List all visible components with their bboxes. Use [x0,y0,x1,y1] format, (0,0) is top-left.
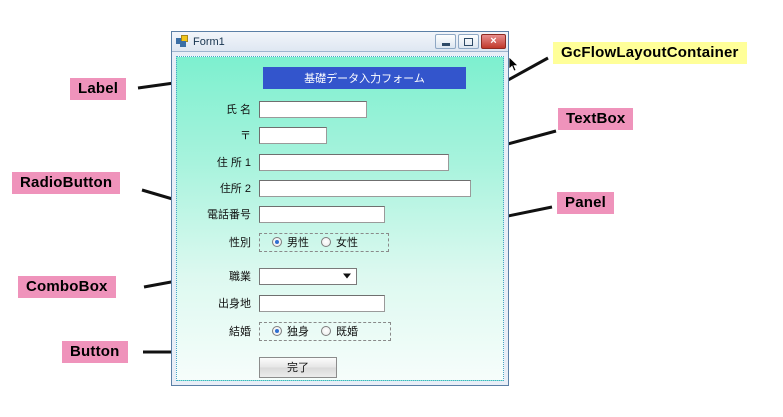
textbox-address2[interactable] [259,180,471,197]
window-title: Form1 [193,36,435,48]
textbox-address1[interactable] [259,154,449,171]
annotation-combobox: ComboBox [18,276,116,298]
maximize-icon [464,38,473,46]
textbox-birthplace[interactable] [259,295,385,312]
field-row-name: 氏 名 [177,99,367,119]
label-marital: 結婚 [177,323,259,339]
radio-marital-married-label: 既婚 [336,323,358,339]
radio-gender-male-label: 男性 [287,234,309,250]
textbox-name[interactable] [259,101,367,118]
header-label: 基礎データ入力フォーム [263,67,466,89]
field-row-occupation: 職業 [177,266,357,286]
radio-gender-male[interactable]: 男性 [272,234,309,250]
field-row-postal: 〒 [177,125,327,145]
field-row-phone: 電話番号 [177,204,385,224]
textbox-postal[interactable] [259,127,327,144]
panel-gender: 男性 女性 [259,233,389,252]
radio-icon [321,237,331,247]
label-birthplace: 出身地 [177,295,259,311]
label-address1: 住 所 1 [177,154,259,170]
close-button[interactable]: × [481,34,506,49]
maximize-button[interactable] [458,34,479,49]
label-address2: 住所 2 [177,180,259,196]
radio-marital-married[interactable]: 既婚 [321,323,358,339]
chevron-down-icon [343,274,351,279]
radio-marital-single-label: 独身 [287,323,309,339]
annotation-panel: Panel [557,192,614,214]
radio-icon [272,326,282,336]
radio-marital-single[interactable]: 独身 [272,323,309,339]
gcflowlayoutcontainer: 基礎データ入力フォーム 氏 名 〒 住 所 1 住所 2 電話番号 性別 [176,56,504,381]
field-row-address1: 住 所 1 [177,152,449,172]
radio-icon [272,237,282,247]
label-name: 氏 名 [177,101,259,117]
label-gender: 性別 [177,234,259,250]
panel-marital: 独身 既婚 [259,322,391,341]
minimize-icon [442,43,450,46]
annotation-label: Label [70,78,126,100]
field-row-marital: 結婚 独身 既婚 [177,321,391,341]
form-window: Form1 × 基礎データ入力フォーム 氏 名 〒 住 所 1 [171,31,509,386]
annotation-textbox: TextBox [558,108,633,130]
field-row-submit: 完了 [177,357,337,377]
field-row-gender: 性別 男性 女性 [177,232,389,252]
radio-gender-female[interactable]: 女性 [321,234,358,250]
field-row-birthplace: 出身地 [177,293,385,313]
textbox-phone[interactable] [259,206,385,223]
close-icon: × [490,36,496,47]
radio-icon [321,326,331,336]
combobox-occupation[interactable] [259,268,357,285]
minimize-button[interactable] [435,34,456,49]
annotation-gcflowlayoutcontainer: GcFlowLayoutContainer [553,42,747,64]
label-phone: 電話番号 [177,206,259,222]
radio-gender-female-label: 女性 [336,234,358,250]
submit-button[interactable]: 完了 [259,357,337,378]
annotation-button: Button [62,341,128,363]
annotation-radiobutton: RadioButton [12,172,120,194]
form-designer-icon [176,35,189,48]
label-occupation: 職業 [177,268,259,284]
window-titlebar: Form1 × [172,32,508,52]
field-row-address2: 住所 2 [177,178,471,198]
window-controls: × [435,34,506,49]
label-postal: 〒 [177,127,259,143]
